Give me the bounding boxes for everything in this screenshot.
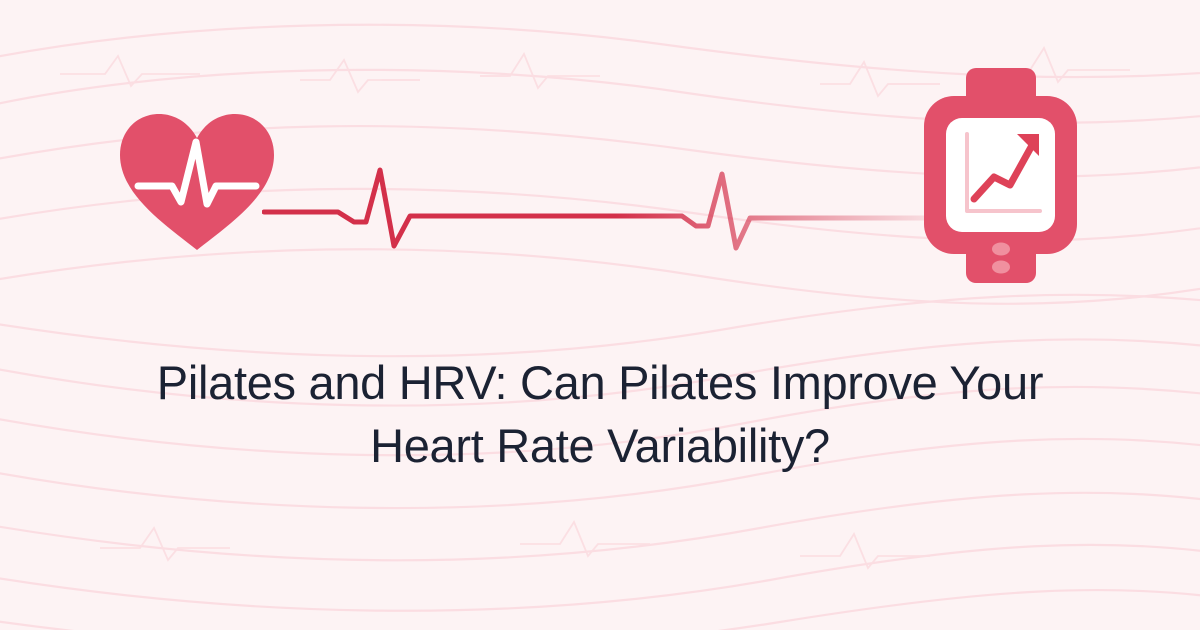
page-title: Pilates and HRV: Can Pilates Improve You… bbox=[0, 352, 1200, 477]
smartwatch-icon bbox=[918, 68, 1083, 283]
title-block: Pilates and HRV: Can Pilates Improve You… bbox=[0, 352, 1200, 477]
social-share-card: Pilates and HRV: Can Pilates Improve You… bbox=[0, 0, 1200, 630]
hero-icon-row bbox=[0, 0, 1200, 310]
watch-crown-button bbox=[992, 243, 1010, 256]
heart-pulse-icon bbox=[112, 108, 282, 253]
watch-side-button bbox=[992, 261, 1010, 274]
ecg-waveform-icon bbox=[262, 160, 942, 260]
